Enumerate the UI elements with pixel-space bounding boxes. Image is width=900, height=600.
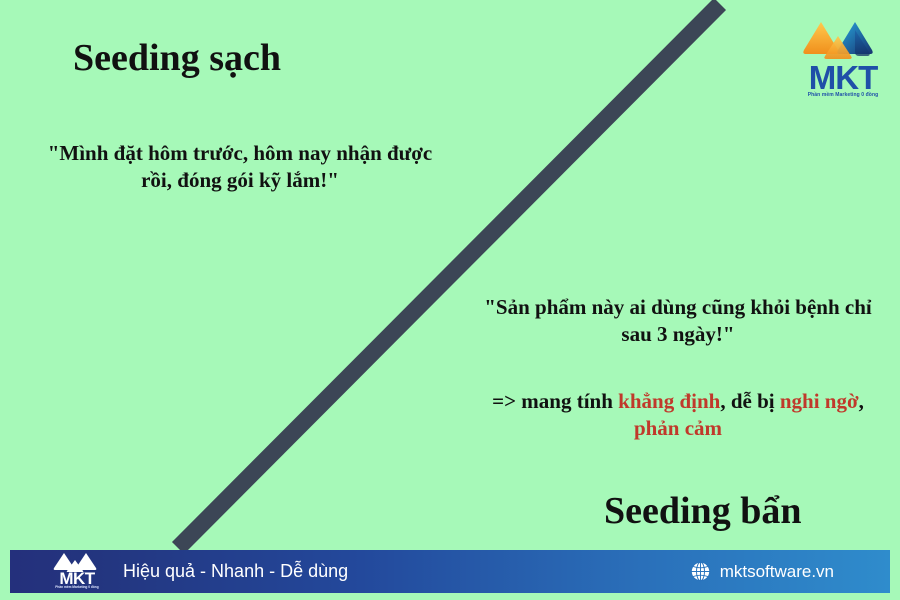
mkt-logo-footer-tagline: Phần mềm Marketing 0 đồng	[48, 585, 106, 589]
quote-dirty-seeding: "Sản phẩm này ai dùng cũng khỏi bệnh chỉ…	[468, 294, 888, 348]
footer-website-label[interactable]: mktsoftware.vn	[720, 562, 834, 582]
note-dirty-seeding: => mang tính khẳng định, dễ bị nghi ngờ,…	[468, 388, 888, 442]
note-highlight-assertive: khẳng định	[618, 389, 720, 413]
mkt-logo-mark-icon	[793, 18, 893, 64]
globe-icon	[690, 561, 711, 582]
heading-seeding-clean: Seeding sạch	[73, 36, 281, 80]
note-prefix: => mang tính	[492, 389, 618, 413]
note-middle: , dễ bị	[720, 389, 780, 413]
note-highlight-offputting: phản cảm	[634, 416, 722, 440]
mkt-logo-footer: MKT Phần mềm Marketing 0 đồng	[48, 552, 106, 592]
note-separator: ,	[859, 389, 864, 413]
mkt-logo-top: MKT Phần mềm Marketing 0 đồng	[793, 18, 893, 106]
mkt-logo-tagline: Phần mềm Marketing 0 đồng	[793, 92, 893, 98]
heading-seeding-dirty: Seeding bẩn	[604, 489, 801, 533]
mkt-logo-wordmark: MKT	[793, 61, 893, 94]
footer-bar: MKT Phần mềm Marketing 0 đồng Hiệu quả -…	[10, 550, 890, 593]
footer-slogan: Hiệu quả - Nhanh - Dễ dùng	[123, 561, 348, 582]
quote-clean-seeding: "Mình đặt hôm trước, hôm nay nhận được r…	[40, 140, 440, 194]
footer-website-group[interactable]: mktsoftware.vn	[690, 561, 834, 582]
note-highlight-doubt: nghi ngờ	[780, 389, 859, 413]
poster-canvas: MKT Phần mềm Marketing 0 đồng Seeding sạ…	[0, 0, 900, 600]
